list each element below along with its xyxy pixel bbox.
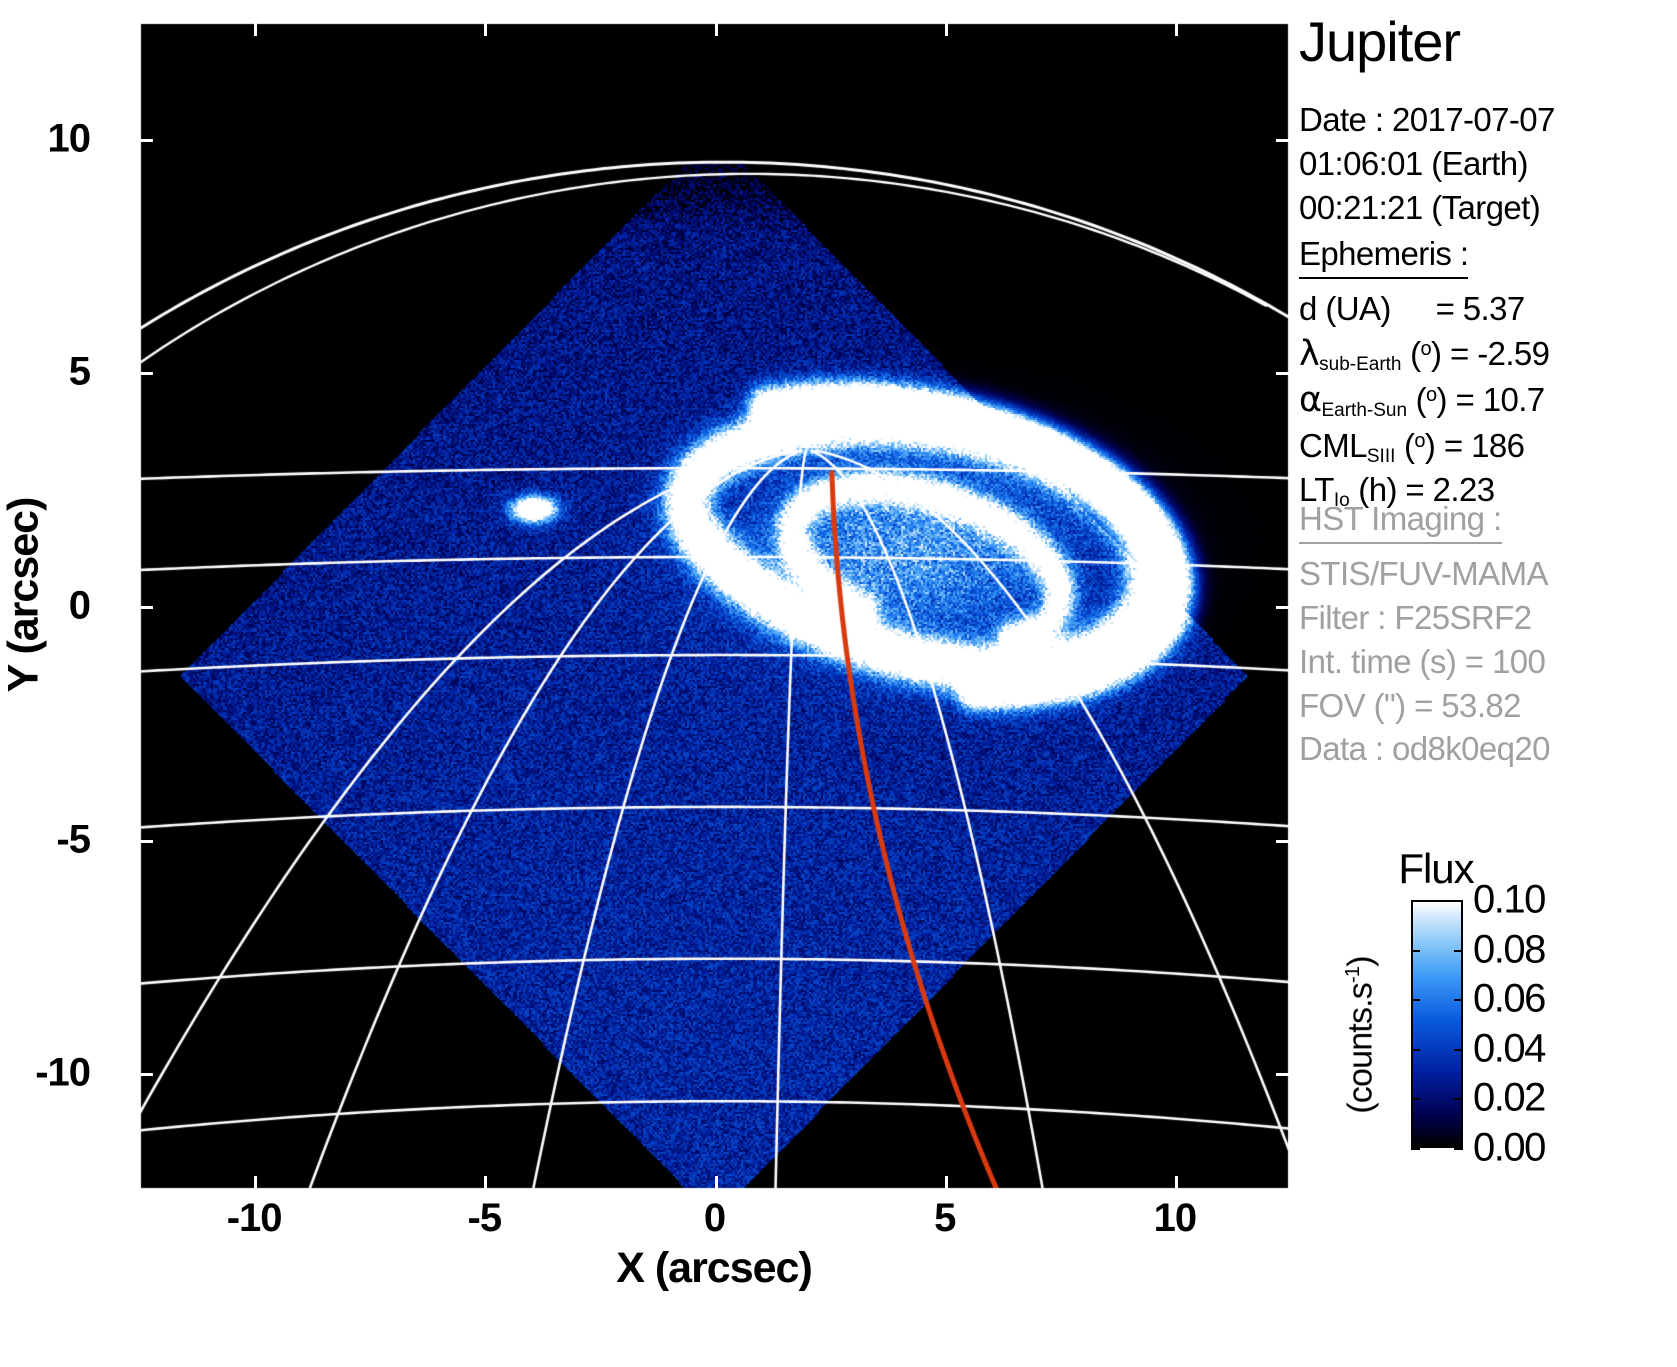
ephemeris-row-unit: (o) <box>1395 427 1435 464</box>
x-tick-mark <box>945 1176 948 1190</box>
ephemeris-row: λsub-Earth (o) = -2.59 <box>1299 331 1549 378</box>
ephemeris-block: Ephemeris : d (UA) = 5.37λsub-Earth (o) … <box>1299 235 1549 512</box>
ephemeris-row-subscript: sub-Earth <box>1319 354 1401 375</box>
ephemeris-row-label: α <box>1299 380 1321 420</box>
colorbar-tick-label: 0.00 <box>1473 1126 1545 1171</box>
colorbar-title: Flux <box>1398 845 1473 893</box>
aurora-heatmap-canvas <box>139 22 1290 1190</box>
observation-date-block: Date : 2017-07-07 01:06:01 (Earth) 00:21… <box>1299 98 1555 230</box>
x-tick-mark <box>254 1176 257 1190</box>
colorbar-tick-mark <box>1411 1148 1420 1150</box>
colorbar-tick-mark <box>1411 999 1420 1001</box>
y-tick-label: -10 <box>35 1051 90 1096</box>
ephemeris-row-value: = 186 <box>1435 427 1524 464</box>
colorbar-group: Flux 0.100.080.060.040.020.00 (counts.s-… <box>1299 840 1677 1240</box>
target-time-line: 00:21:21 (Target) <box>1299 186 1555 230</box>
x-tick-label: -5 <box>468 1196 502 1241</box>
date-line: Date : 2017-07-07 <box>1299 98 1555 142</box>
ephemeris-heading: Ephemeris : <box>1299 235 1468 279</box>
x-tick-label: 0 <box>704 1196 725 1241</box>
ephemeris-row-value: = 10.7 <box>1447 381 1545 418</box>
colorbar-tick-mark <box>1454 1148 1463 1150</box>
x-tick-mark <box>715 22 718 36</box>
colorbar-tick-mark <box>1411 950 1420 952</box>
x-tick-mark <box>484 1176 487 1190</box>
colorbar-tick-mark <box>1454 950 1463 952</box>
hst-imaging-row: Data : od8k0eq20 <box>1299 727 1550 771</box>
colorbar-axis-title-exponent: -1 <box>1342 967 1364 983</box>
ephemeris-row-unit: (o) <box>1407 381 1447 418</box>
ephemeris-row-subscript: SIII <box>1367 446 1396 467</box>
ephemeris-row-label: CML <box>1299 427 1367 464</box>
y-tick-mark <box>139 1073 153 1076</box>
hst-imaging-rows: STIS/FUV-MAMAFilter : F25SRF2Int. time (… <box>1299 552 1550 771</box>
y-tick-mark <box>1276 1073 1290 1076</box>
hst-imaging-row: STIS/FUV-MAMA <box>1299 552 1550 596</box>
y-axis-title: Y (arcsec) <box>0 498 49 693</box>
y-tick-mark <box>139 372 153 375</box>
colorbar-tick-mark <box>1454 999 1463 1001</box>
ephemeris-row: αEarth-Sun (o) = 10.7 <box>1299 377 1549 424</box>
colorbar-tick-mark <box>1411 1098 1420 1100</box>
ephemeris-row: CMLSIII (o) = 186 <box>1299 424 1549 468</box>
ephemeris-row-label: λ <box>1299 334 1319 374</box>
ephemeris-rows: d (UA) = 5.37λsub-Earth (o) = -2.59αEart… <box>1299 287 1549 512</box>
colorbar-axis-title-main: (counts.s <box>1342 983 1380 1114</box>
colorbar-tick-label: 0.02 <box>1473 1076 1545 1121</box>
hst-imaging-row: FOV (") = 53.82 <box>1299 684 1550 728</box>
hst-imaging-row: Int. time (s) = 100 <box>1299 640 1550 684</box>
y-tick-label: 0 <box>69 584 90 629</box>
x-tick-mark <box>254 22 257 36</box>
colorbar-tick-mark <box>1411 1049 1420 1051</box>
colorbar-axis-title: (counts.s-1) <box>1342 956 1381 1113</box>
y-tick-label: -5 <box>56 817 90 862</box>
x-tick-mark <box>715 1176 718 1190</box>
hst-imaging-block: HST Imaging : STIS/FUV-MAMAFilter : F25S… <box>1299 500 1550 771</box>
y-tick-label: 5 <box>69 350 90 395</box>
x-tick-mark <box>484 22 487 36</box>
x-tick-label: 10 <box>1154 1196 1197 1241</box>
y-tick-mark <box>139 139 153 142</box>
y-tick-mark <box>139 840 153 843</box>
x-tick-label: -10 <box>227 1196 282 1241</box>
y-tick-mark <box>139 606 153 609</box>
colorbar-tick-label: 0.06 <box>1473 977 1545 1022</box>
target-title: Jupiter <box>1299 14 1460 70</box>
hst-imaging-row: Filter : F25SRF2 <box>1299 596 1550 640</box>
x-axis-title: X (arcsec) <box>616 1244 812 1293</box>
y-tick-mark <box>1276 139 1290 142</box>
ephemeris-row-value: = 5.37 <box>1427 290 1525 327</box>
colorbar-tick-mark <box>1454 900 1463 902</box>
ephemeris-row-value: = -2.59 <box>1441 335 1549 372</box>
colorbar-gradient <box>1411 900 1463 1148</box>
y-tick-mark <box>1276 840 1290 843</box>
x-tick-mark <box>1175 1176 1178 1190</box>
x-tick-mark <box>1175 22 1178 36</box>
colorbar-tick-label: 0.08 <box>1473 927 1545 972</box>
plot-area <box>139 22 1290 1190</box>
hst-imaging-heading: HST Imaging : <box>1299 500 1502 544</box>
colorbar-tick-label: 0.10 <box>1473 878 1545 923</box>
ephemeris-row-label: d (UA) <box>1299 290 1391 327</box>
colorbar-axis-title-end: ) <box>1342 956 1380 967</box>
colorbar-tick-label: 0.04 <box>1473 1026 1545 1071</box>
x-tick-label: 5 <box>934 1196 955 1241</box>
colorbar-tick-mark <box>1454 1049 1463 1051</box>
colorbar-tick-mark <box>1454 1098 1463 1100</box>
y-tick-mark <box>1276 372 1290 375</box>
ephemeris-row-unit: (o) <box>1402 335 1442 372</box>
y-tick-label: 10 <box>48 116 91 161</box>
colorbar-tick-mark <box>1411 900 1420 902</box>
earth-time-line: 01:06:01 (Earth) <box>1299 142 1555 186</box>
x-tick-mark <box>945 22 948 36</box>
y-tick-mark <box>1276 606 1290 609</box>
ephemeris-row-subscript: Earth-Sun <box>1321 400 1407 421</box>
ephemeris-row: d (UA) = 5.37 <box>1299 287 1549 331</box>
